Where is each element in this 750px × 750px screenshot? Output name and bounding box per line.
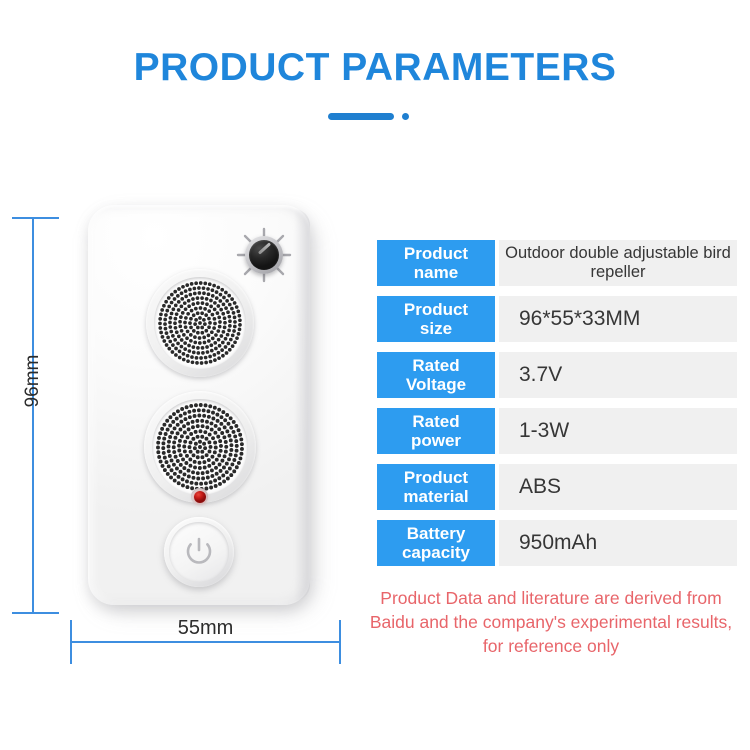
bird-repeller-device — [86, 203, 318, 613]
spec-value-product-material: ABS — [499, 464, 737, 510]
speaker-grille-upper — [146, 269, 254, 377]
table-row: Rated power 1-3W — [377, 408, 737, 454]
deco-bar-icon — [328, 113, 394, 120]
spec-table: Product name Outdoor double adjustable b… — [377, 240, 737, 576]
spec-key-line1: Rated — [412, 356, 459, 375]
status-led-dot — [194, 491, 206, 503]
table-row: Product size 96*55*33MM — [377, 296, 737, 342]
product-parameters-infographic: PRODUCT PARAMETERS 96mm 55mm — [0, 0, 750, 750]
speaker-grille-lower-ring — [152, 399, 248, 495]
table-row: Product name Outdoor double adjustable b… — [377, 240, 737, 286]
speaker-perforation-lower-icon — [152, 399, 248, 495]
power-icon — [185, 537, 213, 567]
spec-key-rated-power: Rated power — [377, 408, 495, 454]
table-row: Battery capacity 950mAh — [377, 520, 737, 566]
speaker-grille-lower — [144, 391, 256, 503]
spec-key-line2: power — [411, 431, 461, 450]
adjustment-knob[interactable] — [236, 227, 292, 283]
spec-value-product-name: Outdoor double adjustable bird repeller — [499, 240, 737, 286]
spec-key-line1: Battery — [407, 524, 466, 543]
spec-key-battery-capacity: Battery capacity — [377, 520, 495, 566]
height-dimension-cap-top — [12, 217, 59, 219]
page-title: PRODUCT PARAMETERS — [0, 46, 750, 90]
deco-dot-icon — [402, 113, 409, 120]
spec-key-line1: Rated — [412, 412, 459, 431]
table-row: Product material ABS — [377, 464, 737, 510]
power-button[interactable] — [164, 517, 234, 587]
disclaimer-note: Product Data and literature are derived … — [360, 586, 742, 658]
height-dimension-cap-bottom — [12, 612, 59, 614]
width-dimension-label: 55mm — [71, 617, 340, 640]
power-button-inner — [169, 522, 229, 582]
spec-key-line1: Product — [404, 468, 468, 487]
spec-key-product-material: Product material — [377, 464, 495, 510]
height-dimension-label: 96mm — [22, 348, 44, 414]
width-dimension-line — [71, 641, 340, 643]
spec-key-product-name: Product name — [377, 240, 495, 286]
spec-value-rated-voltage: 3.7V — [499, 352, 737, 398]
spec-key-line2: size — [420, 319, 452, 338]
spec-key-line2: Voltage — [406, 375, 466, 394]
spec-value-battery-capacity: 950mAh — [499, 520, 737, 566]
height-dimension-line — [32, 218, 34, 614]
knob-cap — [249, 240, 279, 270]
spec-key-line1: Product — [404, 300, 468, 319]
spec-key-line2: material — [403, 487, 468, 506]
spec-key-line2: name — [414, 263, 458, 282]
spec-value-product-size: 96*55*33MM — [499, 296, 737, 342]
spec-key-rated-voltage: Rated Voltage — [377, 352, 495, 398]
spec-value-rated-power: 1-3W — [499, 408, 737, 454]
spec-key-product-size: Product size — [377, 296, 495, 342]
status-led — [191, 488, 208, 505]
speaker-perforation-upper-icon — [154, 277, 246, 369]
speaker-grille-upper-ring — [154, 277, 246, 369]
device-body — [88, 205, 310, 605]
device-right-edge — [294, 209, 310, 601]
spec-key-line2: capacity — [402, 543, 470, 562]
table-row: Rated Voltage 3.7V — [377, 352, 737, 398]
spec-key-line1: Product — [404, 244, 468, 263]
